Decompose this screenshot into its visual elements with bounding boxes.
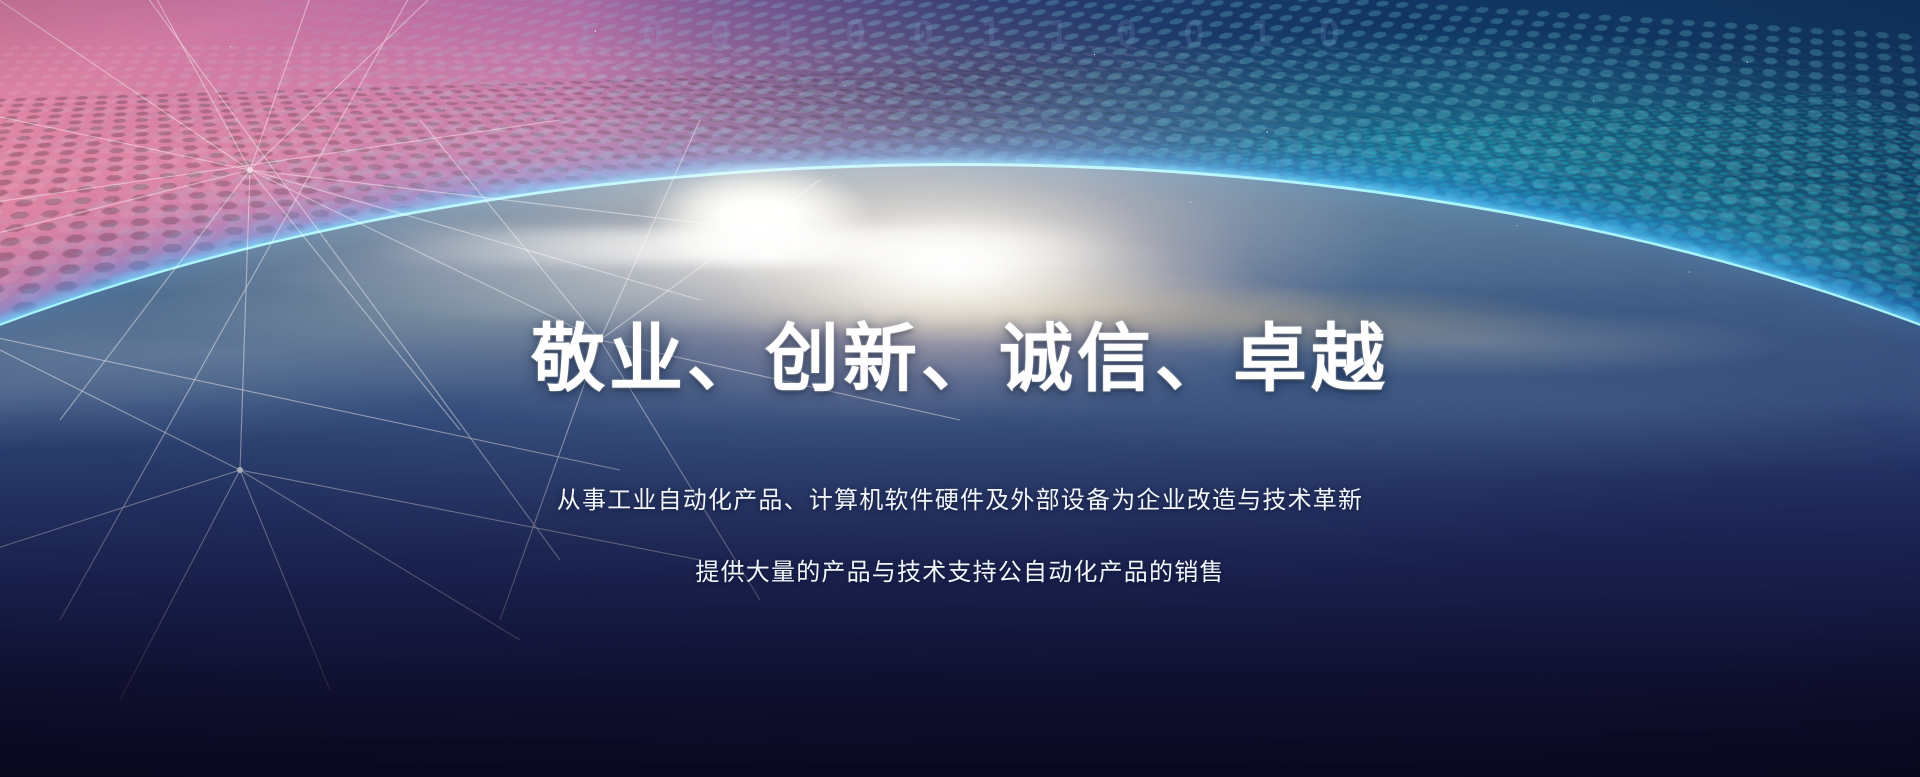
banner-copy-block: 敬业、创新、诚信、卓越 从事工业自动化产品、计算机软件硬件及外部设备为企业改造与…: [0, 0, 1920, 777]
banner-subtitle-line-1: 从事工业自动化产品、计算机软件硬件及外部设备为企业改造与技术革新: [557, 480, 1363, 523]
banner-headline: 敬业、创新、诚信、卓越: [531, 322, 1389, 396]
hero-banner: 1 0 0 1 0 0 1 1 0 0 1 0 敬业、创新、诚信、卓越 从事工业…: [0, 0, 1920, 777]
banner-subtitle-line-2: 提供大量的产品与技术支持公自动化产品的销售: [695, 552, 1224, 595]
